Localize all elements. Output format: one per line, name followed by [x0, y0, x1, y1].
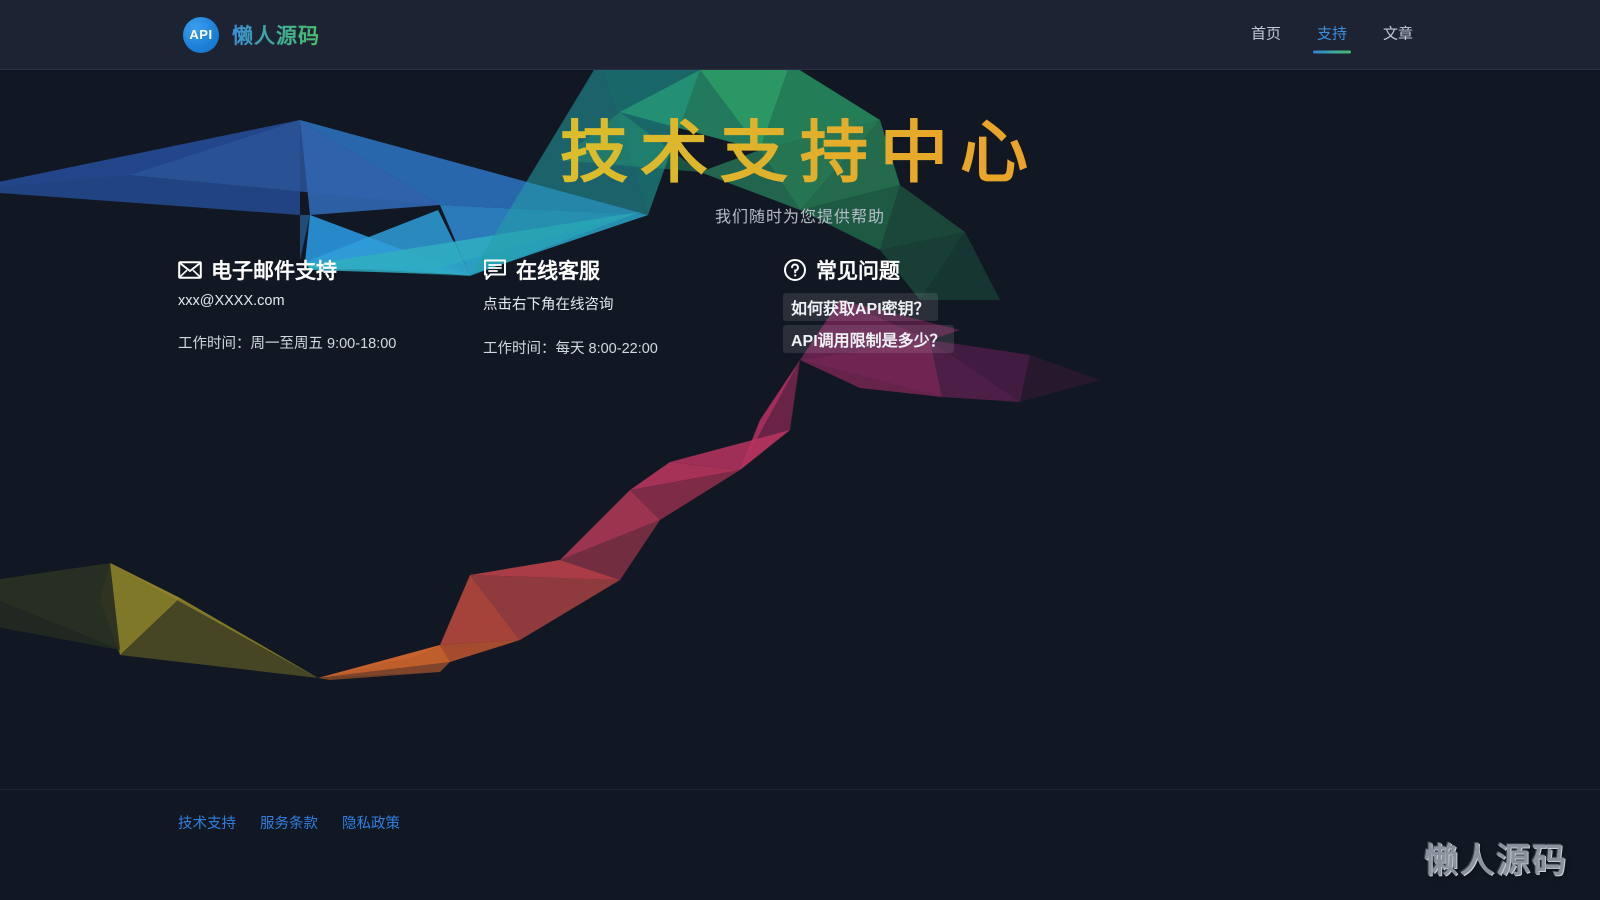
chat-bubble-icon: [483, 258, 507, 282]
card-email-support: 电子邮件支持 xxx@XXXX.com 工作时间：周一至周五 9:00-18:0…: [178, 255, 483, 358]
support-page: API 懒人源码 首页 支持 文章 技术支持中心 我们随时为您提供帮助: [0, 0, 1600, 900]
page-subtitle: 我们随时为您提供帮助: [0, 203, 1600, 227]
card-faq: 常见问题 如何获取API密钥？ API调用限制是多少？: [783, 255, 1088, 358]
nav-active-underline: [1313, 50, 1351, 53]
page-title: 技术支持中心: [0, 118, 1600, 189]
site-header: API 懒人源码 首页 支持 文章: [0, 0, 1600, 70]
hero-section: 技术支持中心 我们随时为您提供帮助: [0, 70, 1600, 227]
card-online-chat: 在线客服 点击右下角在线咨询 工作时间：每天 8:00-22:00: [483, 255, 783, 358]
nav-item-home[interactable]: 首页: [1247, 16, 1285, 53]
brand-name: 懒人源码: [232, 20, 320, 50]
nav-item-articles[interactable]: 文章: [1379, 16, 1417, 53]
card-chat-title: 在线客服: [516, 255, 600, 285]
footer-link-privacy[interactable]: 隐私政策: [342, 812, 400, 833]
support-channels: 电子邮件支持 xxx@XXXX.com 工作时间：周一至周五 9:00-18:0…: [178, 255, 1428, 358]
card-chat-header: 在线客服: [483, 255, 783, 285]
card-email-title: 电子邮件支持: [211, 255, 337, 285]
nav-item-home-label: 首页: [1251, 25, 1281, 42]
brand-logo[interactable]: API 懒人源码: [183, 17, 320, 53]
faq-item-api-key[interactable]: 如何获取API密钥？: [783, 293, 938, 321]
nav-item-support-label: 支持: [1317, 25, 1347, 42]
faq-item-rate-limit[interactable]: API调用限制是多少？: [783, 325, 954, 353]
card-email-address[interactable]: xxx@XXXX.com: [178, 293, 483, 309]
envelope-icon: [178, 258, 202, 282]
main-navigation: 首页 支持 文章: [1247, 16, 1417, 53]
question-circle-icon: [783, 258, 807, 282]
nav-item-articles-label: 文章: [1383, 25, 1413, 42]
site-footer: 技术支持 服务条款 隐私政策: [0, 789, 1600, 900]
card-chat-hours: 工作时间：每天 8:00-22:00: [483, 337, 783, 358]
faq-list: 如何获取API密钥？ API调用限制是多少？: [783, 293, 1088, 353]
card-faq-title: 常见问题: [816, 255, 900, 285]
card-email-header: 电子邮件支持: [178, 255, 483, 285]
card-faq-header: 常见问题: [783, 255, 1088, 285]
nav-item-support[interactable]: 支持: [1313, 16, 1351, 53]
card-email-hours: 工作时间：周一至周五 9:00-18:00: [178, 332, 483, 353]
footer-links: 技术支持 服务条款 隐私政策: [178, 812, 400, 833]
footer-link-support[interactable]: 技术支持: [178, 812, 236, 833]
footer-link-terms[interactable]: 服务条款: [260, 812, 318, 833]
watermark: 懒人源码: [1424, 833, 1568, 882]
api-logo-icon: API: [183, 17, 219, 53]
card-chat-hint: 点击右下角在线咨询: [483, 293, 783, 314]
